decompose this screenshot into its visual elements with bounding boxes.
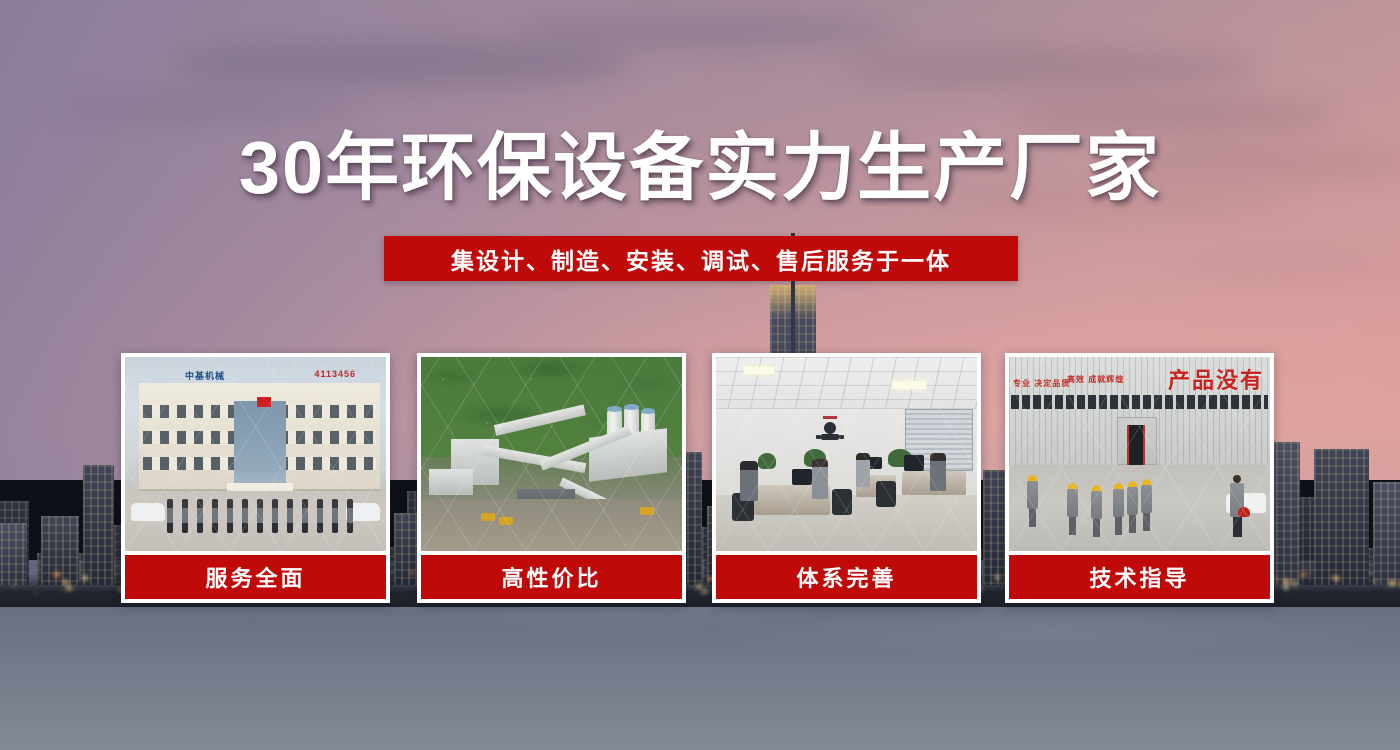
cloud-shape: [520, 14, 900, 48]
silo-cap: [624, 404, 639, 410]
cloud-shape: [60, 95, 360, 121]
card-caption-text: 体系完善: [796, 561, 896, 593]
ceiling-light: [892, 381, 926, 389]
ceiling-light: [744, 367, 774, 374]
person-figure: [812, 459, 828, 499]
silo-cap: [641, 408, 655, 414]
shoreline-light: [54, 572, 60, 578]
office-chair: [876, 481, 896, 507]
card-caption-text: 服务全面: [205, 561, 305, 593]
worker-figure: [1027, 475, 1038, 535]
subtitle-banner: 集设计、制造、安装、调试、售后服务于一体: [384, 236, 1018, 281]
monitor-screen: [904, 455, 924, 471]
card-photo-aerial-plant: [421, 357, 682, 551]
worker-legs: [1143, 513, 1150, 531]
feature-card-training[interactable]: 产品没有 专业 决定品质 高效 成就辉煌: [1005, 353, 1274, 603]
card-caption-bar: 服务全面: [125, 555, 386, 599]
feature-card-system[interactable]: 体系完善: [712, 353, 981, 603]
subtitle-text: 集设计、制造、安装、调试、售后服务于一体: [451, 242, 951, 276]
skyline-building: [0, 523, 27, 585]
card-photo-office-interior: [716, 357, 977, 551]
building-facade: [139, 383, 380, 491]
skyline-building: [1373, 482, 1400, 585]
machinery-shape: [640, 507, 654, 515]
office-chair: [832, 489, 852, 515]
card-caption-bar: 体系完善: [716, 555, 977, 599]
monitor-screen: [792, 469, 812, 485]
feature-card-value[interactable]: 高性价比: [417, 353, 686, 603]
banner-stage: 30年环保设备实力生产厂家 集设计、制造、安装、调试、售后服务于一体 中基机械 …: [0, 0, 1400, 750]
red-helmet-icon: [1238, 507, 1250, 517]
worker-figure: [1113, 483, 1124, 535]
worker-legs: [1115, 517, 1122, 535]
company-phone-text: 4113456: [314, 369, 356, 379]
factory-wall: 产品没有 专业 决定品质 高效 成就辉煌: [1009, 357, 1270, 465]
factory-slogan-text: 高效 成就辉煌: [1067, 375, 1124, 385]
supervisor-figure: [1230, 475, 1244, 537]
person-figure: [856, 453, 870, 487]
feature-card-list: 中基机械 4113456 服务全面: [121, 353, 1279, 603]
worker-torso: [1027, 481, 1038, 509]
worker-torso: [1091, 491, 1102, 519]
shoreline-light: [1374, 580, 1377, 583]
worker-figure: [1067, 483, 1078, 535]
potted-plant: [758, 453, 776, 469]
staff-figure: [242, 499, 248, 533]
flag-icon: [257, 397, 271, 407]
ceiling-grid: [716, 357, 977, 409]
supervisor-legs: [1233, 517, 1242, 537]
skyline-building: [1314, 449, 1369, 585]
card-caption-bar: 技术指导: [1009, 555, 1270, 599]
cloud-shape: [170, 40, 630, 86]
worker-torso: [1113, 489, 1124, 517]
card-photo-office-building: 中基机械 4113456: [125, 357, 386, 551]
shoreline-light: [82, 575, 88, 581]
worker-legs: [1093, 519, 1100, 537]
worker-legs: [1029, 509, 1036, 527]
shoreline-light: [1283, 584, 1289, 590]
machinery-shape: [481, 513, 495, 521]
worker-figure: [1141, 479, 1152, 531]
worker-figure: [1091, 485, 1102, 537]
staff-figure: [302, 499, 308, 533]
worker-torso: [1127, 487, 1138, 515]
skyline-building: [41, 516, 79, 585]
supervisor-head: [1233, 475, 1241, 483]
worker-torso: [1067, 489, 1078, 517]
shoreline-light: [1334, 576, 1338, 580]
feature-card-service[interactable]: 中基机械 4113456 服务全面: [121, 353, 390, 603]
staff-figure: [257, 499, 263, 533]
staff-figure: [227, 499, 233, 533]
worker-legs: [1069, 517, 1076, 535]
car-shape: [131, 503, 165, 521]
page-title: 30年环保设备实力生产厂家: [0, 128, 1400, 208]
factory-slogan-text: 专业 决定品质: [1013, 379, 1070, 389]
cloud-shape: [840, 48, 1260, 88]
worker-torso: [1141, 485, 1152, 513]
silo-cap: [607, 406, 622, 412]
staff-figure: [212, 499, 218, 533]
staff-figure: [317, 499, 323, 533]
worker-figure: [1127, 481, 1138, 533]
wall-decal-icon: [812, 415, 848, 445]
card-caption-bar: 高性价比: [421, 555, 682, 599]
staff-figure: [332, 499, 338, 533]
person-figure: [740, 461, 758, 501]
shoreline-light: [1283, 579, 1289, 585]
clerestory-windows: [1011, 395, 1268, 409]
card-caption-text: 高性价比: [501, 561, 601, 593]
staff-figure: [347, 499, 353, 533]
company-sign-text: 中基机械: [185, 369, 225, 382]
card-photo-worker-lineup: 产品没有 专业 决定品质 高效 成就辉煌: [1009, 357, 1270, 551]
staff-figure: [272, 499, 278, 533]
staff-figure: [182, 499, 188, 533]
staff-figure: [197, 499, 203, 533]
worker-legs: [1129, 515, 1136, 533]
plant-building: [429, 469, 473, 495]
machinery-shape: [499, 517, 513, 525]
person-figure: [930, 453, 946, 491]
staff-figure: [167, 499, 173, 533]
skyline-building: [83, 465, 114, 585]
card-caption-text: 技术指导: [1089, 561, 1189, 593]
shoreline-light: [1389, 580, 1395, 586]
staff-figure: [287, 499, 293, 533]
factory-door-opening: [1127, 425, 1145, 465]
factory-sign-text: 产品没有: [1168, 363, 1264, 395]
